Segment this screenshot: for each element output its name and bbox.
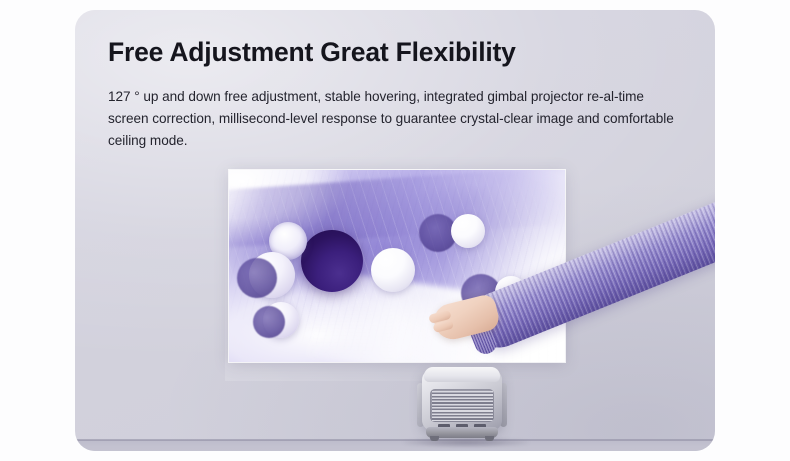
projector-vent-grille: [430, 389, 494, 422]
body-paragraph: 127 ° up and down free adjustment, stabl…: [108, 86, 688, 152]
text-block: Free Adjustment Great Flexibility 127 ° …: [108, 37, 690, 152]
table-surface: [75, 440, 715, 451]
projector-foot-left: [430, 436, 439, 441]
projected-screen: [229, 170, 565, 362]
promo-card: Free Adjustment Great Flexibility 127 ° …: [75, 10, 715, 451]
projector-top-cap: [424, 367, 500, 382]
artwork-sphere-center: [371, 248, 415, 292]
page-title: Free Adjustment Great Flexibility: [108, 37, 690, 69]
artwork-shadow-disc-bottom: [253, 306, 285, 338]
page-root: Free Adjustment Great Flexibility 127 ° …: [0, 0, 790, 461]
artwork-shadow-disc-left: [237, 258, 277, 298]
artwork-sphere-dark-large: [301, 230, 363, 292]
projector-foot-right: [485, 436, 494, 441]
table-edge-line: [75, 439, 715, 441]
gimbal-projector: [414, 367, 510, 441]
artwork-sphere-right: [495, 276, 527, 308]
artwork-sphere-upper-right: [451, 214, 485, 248]
